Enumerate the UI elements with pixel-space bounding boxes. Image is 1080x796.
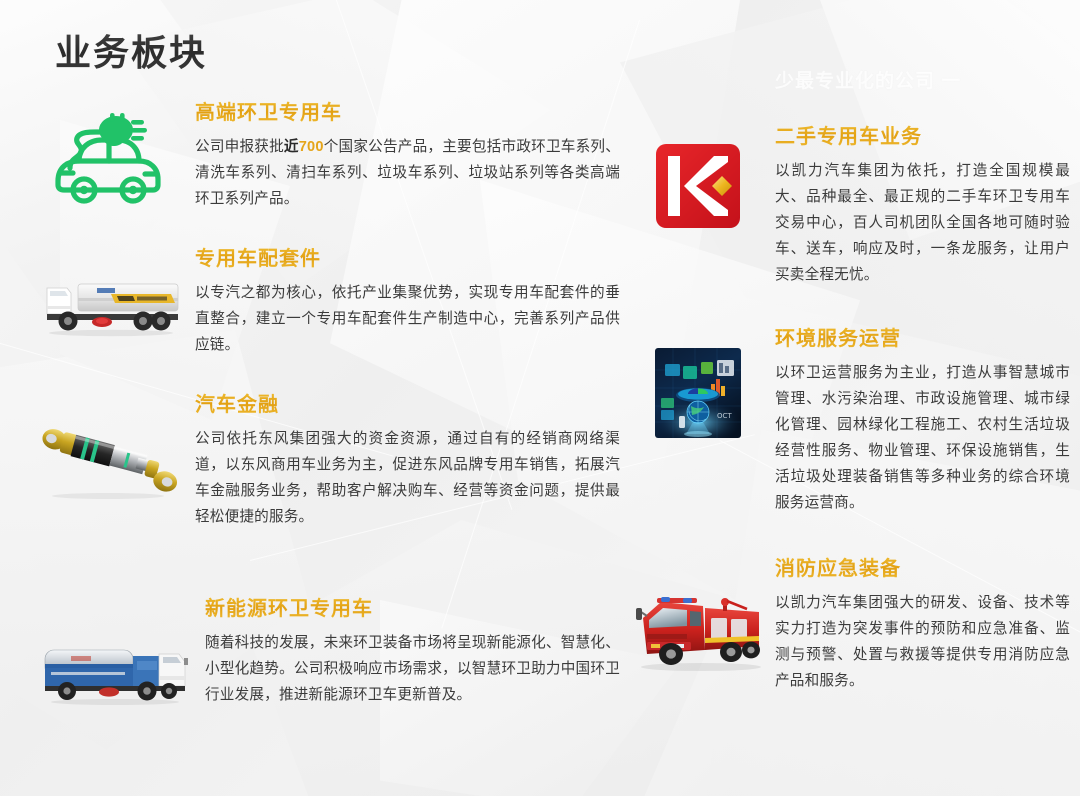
section-environment-service-operation: OCT 环境服务运营 以环卫运营服务为主业，打造从事智慧城市管理、水污染治理、市… — [620, 322, 1070, 516]
page-title: 业务板块 — [55, 24, 207, 76]
icon-slot — [620, 552, 775, 674]
text-slot: 二手专用车业务 以凯力汽车集团为依托，打造全国规模最大、品种最全、最正规的二手车… — [775, 120, 1070, 288]
left-column: 高端环卫专用车 公司申报获批近700个国家公告产品，主要包括市政环卫车系列、清洗… — [20, 96, 620, 708]
smart-city-tech-image: OCT — [655, 348, 741, 438]
slide-root: 少最专业化的公司 一 业务板块 — [0, 0, 1080, 796]
icon-slot: OCT — [620, 322, 775, 438]
right-column: 二手专用车业务 以凯力汽车集团为依托，打造全国规模最大、品种最全、最正规的二手车… — [620, 120, 1070, 694]
section-used-special-vehicle-business: 二手专用车业务 以凯力汽车集团为依托，打造全国规模最大、品种最全、最正规的二手车… — [620, 120, 1070, 288]
icon-slot — [20, 242, 195, 338]
section-body: 随着科技的发展，未来环卫装备市场将呈现新能源化、智慧化、小型化趋势。公司积极响应… — [205, 630, 620, 708]
section-body: 以专汽之都为核心，依托产业集聚优势，实现专用车配套件的垂直整合，建立一个专用车配… — [195, 280, 620, 358]
body-emphasis: 近 — [284, 139, 299, 155]
svg-text:OCT: OCT — [717, 412, 732, 420]
text-slot: 环境服务运营 以环卫运营服务为主业，打造从事智慧城市管理、水污染治理、市政设施管… — [775, 322, 1070, 516]
text-slot: 消防应急装备 以凯力汽车集团强大的研发、设备、技术等实力打造为突发事件的预防和应… — [775, 552, 1070, 694]
section-body: 以环卫运营服务为主业，打造从事智慧城市管理、水污染治理、市政设施管理、城市绿化管… — [775, 360, 1070, 516]
text-slot: 专用车配套件 以专汽之都为核心，依托产业集聚优势，实现专用车配套件的垂直整合，建… — [195, 242, 620, 358]
section-title: 汽车金融 — [195, 388, 620, 417]
section-body: 公司申报获批近700个国家公告产品，主要包括市政环卫车系列、清洗车系列、清扫车系… — [195, 134, 620, 212]
kaili-k-logo — [654, 142, 742, 230]
section-new-energy-sanitation-vehicle: 新能源环卫专用车 随着科技的发展，未来环卫装备市场将呈现新能源化、智慧化、小型化… — [20, 592, 620, 708]
blue-sweeper-truck-image — [37, 636, 189, 708]
text-slot: 汽车金融 公司依托东风集团强大的资金资源，通过自有的经销商网络渠道，以东风商用车… — [195, 388, 620, 530]
section-title: 高端环卫专用车 — [195, 96, 620, 125]
section-auto-finance: 汽车金融 公司依托东风集团强大的资金资源，通过自有的经销商网络渠道，以东风商用车… — [20, 388, 620, 530]
charging-plug-icon — [99, 113, 147, 146]
red-fire-truck-image — [627, 578, 769, 674]
section-fire-emergency-equipment: 消防应急装备 以凯力汽车集团强大的研发、设备、技术等实力打造为突发事件的预防和应… — [620, 552, 1070, 694]
section-title: 消防应急装备 — [775, 552, 1070, 581]
section-special-vehicle-parts: 专用车配套件 以专汽之都为核心，依托产业集聚优势，实现专用车配套件的垂直整合，建… — [20, 242, 620, 358]
body-pre: 公司申报获批 — [195, 139, 284, 155]
section-body: 公司依托东风集团强大的资金资源，通过自有的经销商网络渠道，以东风商用车业务为主，… — [195, 426, 620, 530]
section-body: 以凯力汽车集团强大的研发、设备、技术等实力打造为突发事件的预防和应急准备、监测与… — [775, 590, 1070, 694]
icon-slot — [620, 120, 775, 230]
icon-slot — [20, 96, 195, 206]
white-sweeper-truck-image — [33, 272, 183, 338]
watermark-text: 少最专业化的公司 一 — [775, 66, 961, 93]
text-slot: 新能源环卫专用车 随着科技的发展，未来环卫装备市场将呈现新能源化、智慧化、小型化… — [205, 592, 620, 708]
text-slot: 高端环卫专用车 公司申报获批近700个国家公告产品，主要包括市政环卫车系列、清洗… — [195, 96, 620, 212]
green-electric-car-icon — [49, 102, 167, 206]
icon-slot — [20, 388, 195, 502]
section-title: 二手专用车业务 — [775, 120, 1070, 149]
section-high-end-sanitation-vehicle: 高端环卫专用车 公司申报获批近700个国家公告产品，主要包括市政环卫车系列、清洗… — [20, 96, 620, 212]
section-title: 专用车配套件 — [195, 242, 620, 271]
body-highlight-number: 700 — [299, 139, 324, 155]
section-title: 环境服务运营 — [775, 322, 1070, 351]
hydraulic-cylinder-image — [32, 424, 184, 502]
icon-slot — [20, 592, 205, 708]
section-body: 以凯力汽车集团为依托，打造全国规模最大、品种最全、最正规的二手车环卫专用车交易中… — [775, 158, 1070, 288]
section-title: 新能源环卫专用车 — [205, 592, 620, 621]
